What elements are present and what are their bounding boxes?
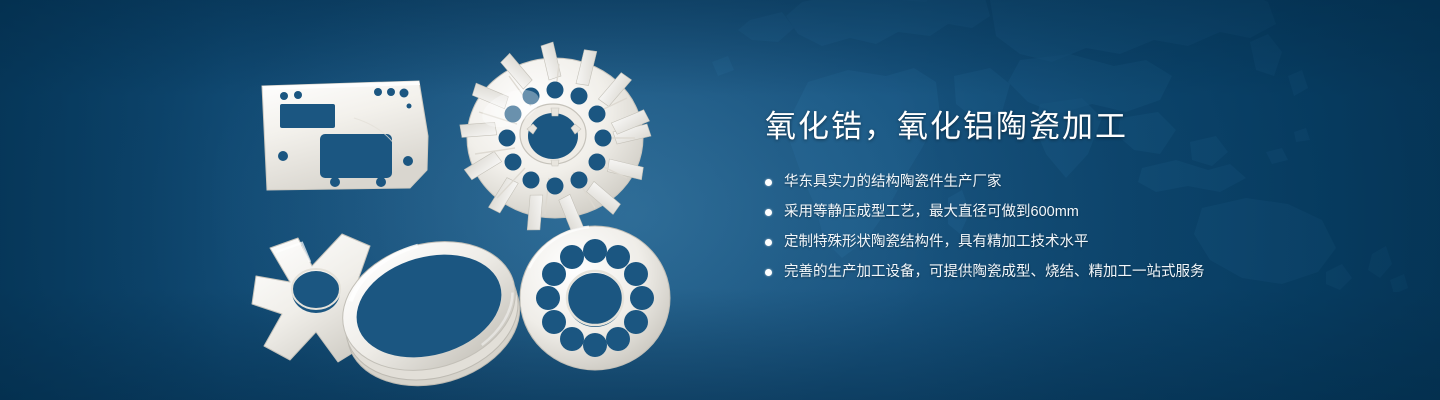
bullet-dot-icon — [765, 269, 772, 276]
ceramic-impeller-disc — [458, 50, 653, 225]
feature-text: 采用等静压成型工艺，最大直径可做到600mm — [784, 201, 1079, 223]
feature-text: 华东具实力的结构陶瓷件生产厂家 — [784, 171, 1002, 193]
list-item: 华东具实力的结构陶瓷件生产厂家 — [765, 171, 1385, 193]
bullet-dot-icon — [765, 179, 772, 186]
list-item: 定制特殊形状陶瓷结构件，具有精加工技术水平 — [765, 231, 1385, 253]
ceramic-products-image — [210, 34, 710, 379]
bullet-dot-icon — [765, 239, 772, 246]
list-item: 完善的生产加工设备，可提供陶瓷成型、烧结、精加工一站式服务 — [765, 261, 1385, 283]
list-item: 采用等静压成型工艺，最大直径可做到600mm — [765, 201, 1385, 223]
bullet-dot-icon — [765, 209, 772, 216]
feature-text: 定制特殊形状陶瓷结构件，具有精加工技术水平 — [784, 231, 1089, 253]
hero-banner: 氧化锆，氧化铝陶瓷加工 华东具实力的结构陶瓷件生产厂家 采用等静压成型工艺，最大… — [0, 0, 1440, 400]
feature-list: 华东具实力的结构陶瓷件生产厂家 采用等静压成型工艺，最大直径可做到600mm 定… — [765, 171, 1385, 283]
ceramic-rings-stack — [334, 230, 524, 378]
ceramic-perforated-ring-disc — [515, 220, 675, 375]
page-title: 氧化锆，氧化铝陶瓷加工 — [765, 108, 1385, 145]
ceramic-plate-with-cutouts — [258, 78, 433, 198]
feature-text: 完善的生产加工设备，可提供陶瓷成型、烧结、精加工一站式服务 — [784, 261, 1205, 283]
banner-text-block: 氧化锆，氧化铝陶瓷加工 华东具实力的结构陶瓷件生产厂家 采用等静压成型工艺，最大… — [765, 108, 1385, 283]
